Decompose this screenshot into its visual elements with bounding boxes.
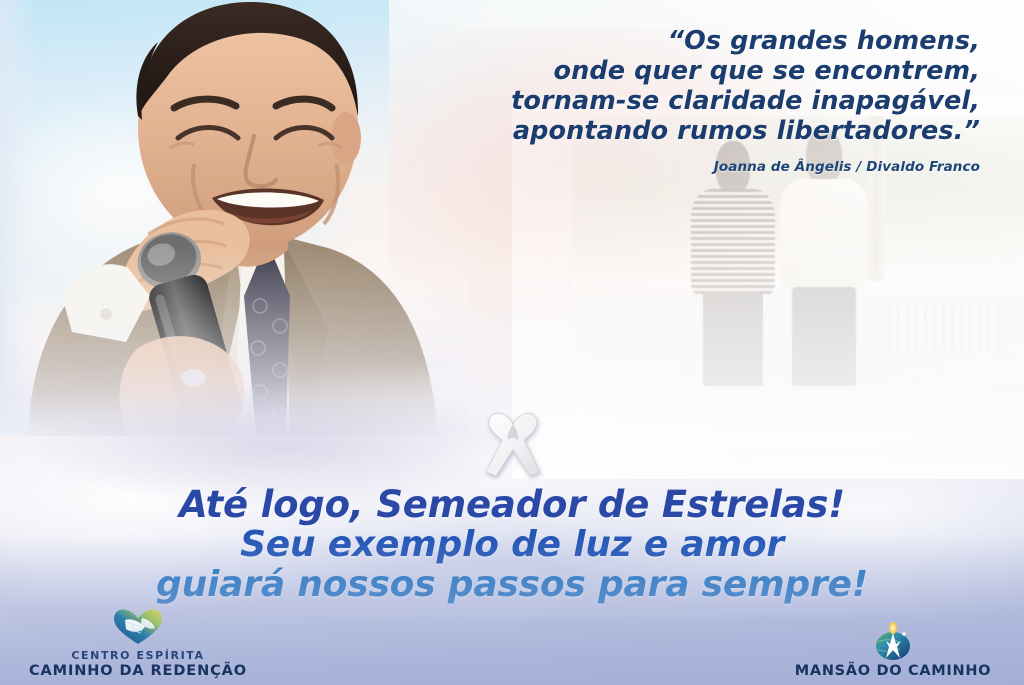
white-ribbon-icon bbox=[484, 406, 542, 480]
hands-heart-icon bbox=[8, 606, 268, 646]
memorial-poster: “Os grandes homens, onde quer que se enc… bbox=[0, 0, 1024, 685]
quote-attribution: Joanna de Ângelis / Divaldo Franco bbox=[420, 159, 980, 175]
headline-line-1: Até logo, Semeador de Estrelas! bbox=[0, 484, 1024, 525]
globe-figure-icon bbox=[768, 622, 1018, 662]
logo-centro-espirita: CENTRO ESPÍRITA CAMINHO DA REDENÇÃO bbox=[8, 606, 268, 679]
logo-mansao-do-caminho: MANSÃO DO CAMINHO bbox=[768, 622, 1018, 679]
quote-line-2: onde quer que se encontrem, bbox=[420, 56, 980, 86]
quote-line-1: “Os grandes homens, bbox=[420, 26, 980, 56]
logo-left-line-1: CENTRO ESPÍRITA bbox=[8, 649, 268, 662]
quote-block: “Os grandes homens, onde quer que se enc… bbox=[420, 26, 980, 175]
logo-left-line-2: CAMINHO DA REDENÇÃO bbox=[8, 663, 268, 679]
logo-right-line-2: MANSÃO DO CAMINHO bbox=[768, 663, 1018, 679]
quote-line-3: tornam-se claridade inapagável, bbox=[420, 86, 980, 116]
quote-line-4: apontando rumos libertadores.” bbox=[420, 116, 980, 146]
